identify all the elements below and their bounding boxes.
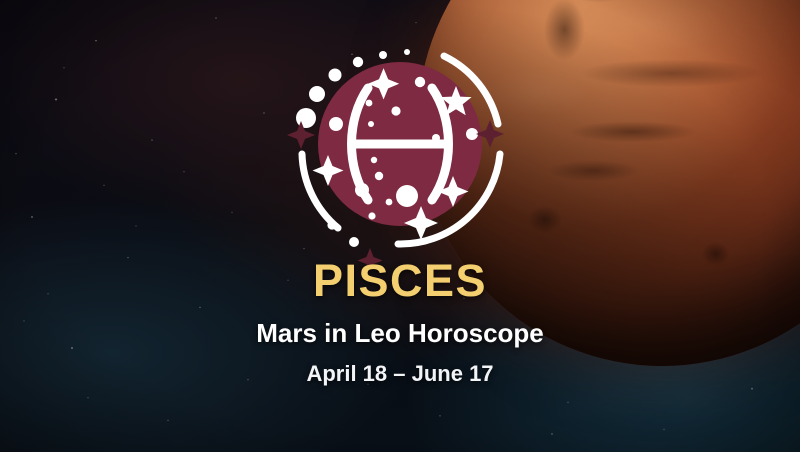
headline: Mars in Leo Horoscope [0,319,800,348]
zodiac-emblem [276,20,524,268]
text-block: PISCES Mars in Leo Horoscope April 18 – … [0,258,800,386]
horoscope-banner: PISCES Mars in Leo Horoscope April 18 – … [0,0,800,452]
date-range: April 18 – June 17 [0,362,800,386]
sign-name: PISCES [0,258,800,303]
